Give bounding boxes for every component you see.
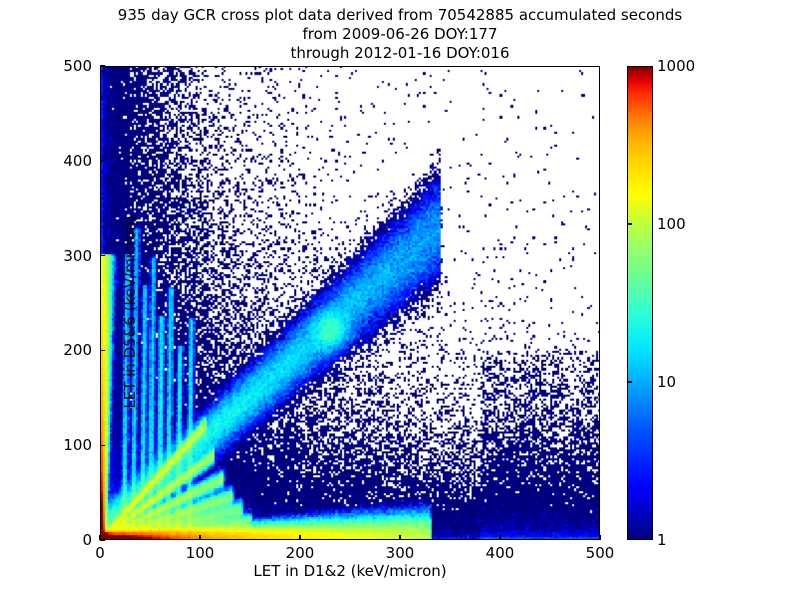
colorbar-tick-100 bbox=[627, 223, 632, 224]
colorbar-ticklabel-10: 10 bbox=[657, 373, 676, 391]
colorbar-ticklabel-1: 1 bbox=[657, 531, 667, 549]
y-ticklabel-400: 400 bbox=[34, 152, 92, 170]
y-axis-label: LET in D5&6 (keV/micron) bbox=[121, 75, 139, 549]
x-tick-300 bbox=[399, 535, 400, 540]
x-ticklabel-200: 200 bbox=[286, 544, 315, 562]
chart-title: 935 day GCR cross plot data derived from… bbox=[0, 6, 800, 63]
x-tick-200 bbox=[299, 535, 300, 540]
x-ticklabel-300: 300 bbox=[386, 544, 415, 562]
plot-axes bbox=[100, 66, 600, 540]
colorbar-tick-10 bbox=[627, 381, 632, 382]
x-ticklabel-500: 500 bbox=[586, 544, 615, 562]
colorbar-ticklabel-1000: 1000 bbox=[657, 57, 695, 75]
figure-canvas: 935 day GCR cross plot data derived from… bbox=[0, 0, 800, 600]
y-tick-0 bbox=[100, 539, 105, 540]
y-ticklabel-500: 500 bbox=[34, 57, 92, 75]
x-tick-500 bbox=[599, 535, 600, 540]
y-ticklabel-100: 100 bbox=[34, 436, 92, 454]
y-tick-300 bbox=[100, 255, 105, 256]
x-ticklabel-0: 0 bbox=[95, 544, 105, 562]
x-ticklabel-400: 400 bbox=[486, 544, 515, 562]
y-tick-400 bbox=[100, 160, 105, 161]
y-tick-100 bbox=[100, 445, 105, 446]
density-heatmap bbox=[101, 67, 599, 539]
y-ticklabel-300: 300 bbox=[34, 247, 92, 265]
x-tick-400 bbox=[499, 535, 500, 540]
y-ticklabel-200: 200 bbox=[34, 341, 92, 359]
y-tick-200 bbox=[100, 350, 105, 351]
x-ticklabel-100: 100 bbox=[186, 544, 215, 562]
y-ticklabel-0: 0 bbox=[34, 531, 92, 549]
colorbar-ticklabel-100: 100 bbox=[657, 215, 686, 233]
x-axis-label: LET in D1&2 (keV/micron) bbox=[100, 562, 600, 580]
x-tick-100 bbox=[199, 535, 200, 540]
chart-title-line-2: from 2009-06-26 DOY:177 bbox=[0, 25, 800, 44]
colorbar-gradient bbox=[627, 66, 653, 540]
y-tick-500 bbox=[100, 65, 105, 66]
chart-title-line-1: 935 day GCR cross plot data derived from… bbox=[0, 6, 800, 25]
